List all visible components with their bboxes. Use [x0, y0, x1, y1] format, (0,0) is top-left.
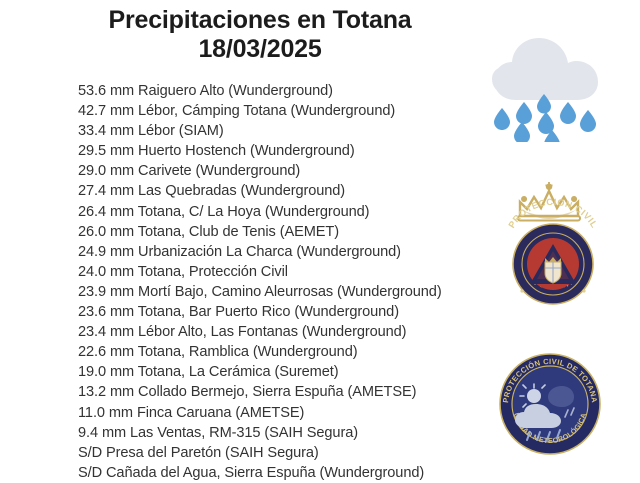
list-item: 9.4 mm Las Ventas, RM-315 (SAIH Segura) — [78, 423, 468, 443]
list-item: 23.6 mm Totana, Bar Puerto Rico (Wunderg… — [78, 302, 468, 322]
list-item: 26.0 mm Totana, Club de Tenis (AEMET) — [78, 222, 468, 242]
list-item: 24.0 mm Totana, Protección Civil — [78, 262, 468, 282]
list-item: 24.9 mm Urbanización La Charca (Wundergr… — [78, 242, 468, 262]
list-item: 27.4 mm Las Quebradas (Wunderground) — [78, 181, 468, 201]
proteccion-civil-totana-emblem: PROTECCION CIVIL TOTANA — [492, 178, 614, 306]
town-crest — [545, 257, 561, 283]
cloud-shape — [492, 38, 598, 100]
list-item: 13.2 mm Collado Bermejo, Sierra Espuña (… — [78, 382, 468, 402]
heavy-rain-cloud-icon — [480, 22, 620, 142]
graphics-column: PROTECCION CIVIL TOTANA — [470, 0, 640, 480]
unidad-meteorologica-emblem: PROTECCIÓN CIVIL DE TOTANA UNIDAD METEOR… — [498, 352, 602, 456]
list-item: 11.0 mm Finca Caruana (AMETSE) — [78, 403, 468, 423]
precipitation-report-page: Precipitaciones en Totana 18/03/2025 53.… — [0, 0, 640, 480]
list-item: 29.0 mm Carivete (Wunderground) — [78, 161, 468, 181]
list-item: S/D Presa del Paretón (SAIH Segura) — [78, 443, 468, 463]
list-item: 22.6 mm Totana, Ramblica (Wunderground) — [78, 342, 468, 362]
list-item: 26.4 mm Totana, C/ La Hoya (Wunderground… — [78, 202, 468, 222]
title-line-date: 18/03/2025 — [75, 35, 445, 64]
list-item: 23.9 mm Mortí Bajo, Camino Aleurrosas (W… — [78, 282, 468, 302]
title-line-primary: Precipitaciones en Totana — [75, 6, 445, 35]
report-content: Precipitaciones en Totana 18/03/2025 53.… — [0, 0, 470, 480]
page-title: Precipitaciones en Totana 18/03/2025 — [75, 0, 445, 64]
list-item: 23.4 mm Lébor Alto, Las Fontanas (Wunder… — [78, 322, 468, 342]
rain-drops — [494, 94, 596, 142]
list-item: 19.0 mm Totana, La Cerámica (Suremet) — [78, 362, 468, 382]
list-item: 53.6 mm Raiguero Alto (Wunderground) — [78, 81, 468, 101]
list-item: 33.4 mm Lébor (SIAM) — [78, 121, 468, 141]
list-item: 42.7 mm Lébor, Cámping Totana (Wundergro… — [78, 101, 468, 121]
list-item: 29.5 mm Huerto Hostench (Wunderground) — [78, 141, 468, 161]
precipitation-readings-list: 53.6 mm Raiguero Alto (Wunderground) 42.… — [78, 81, 468, 483]
